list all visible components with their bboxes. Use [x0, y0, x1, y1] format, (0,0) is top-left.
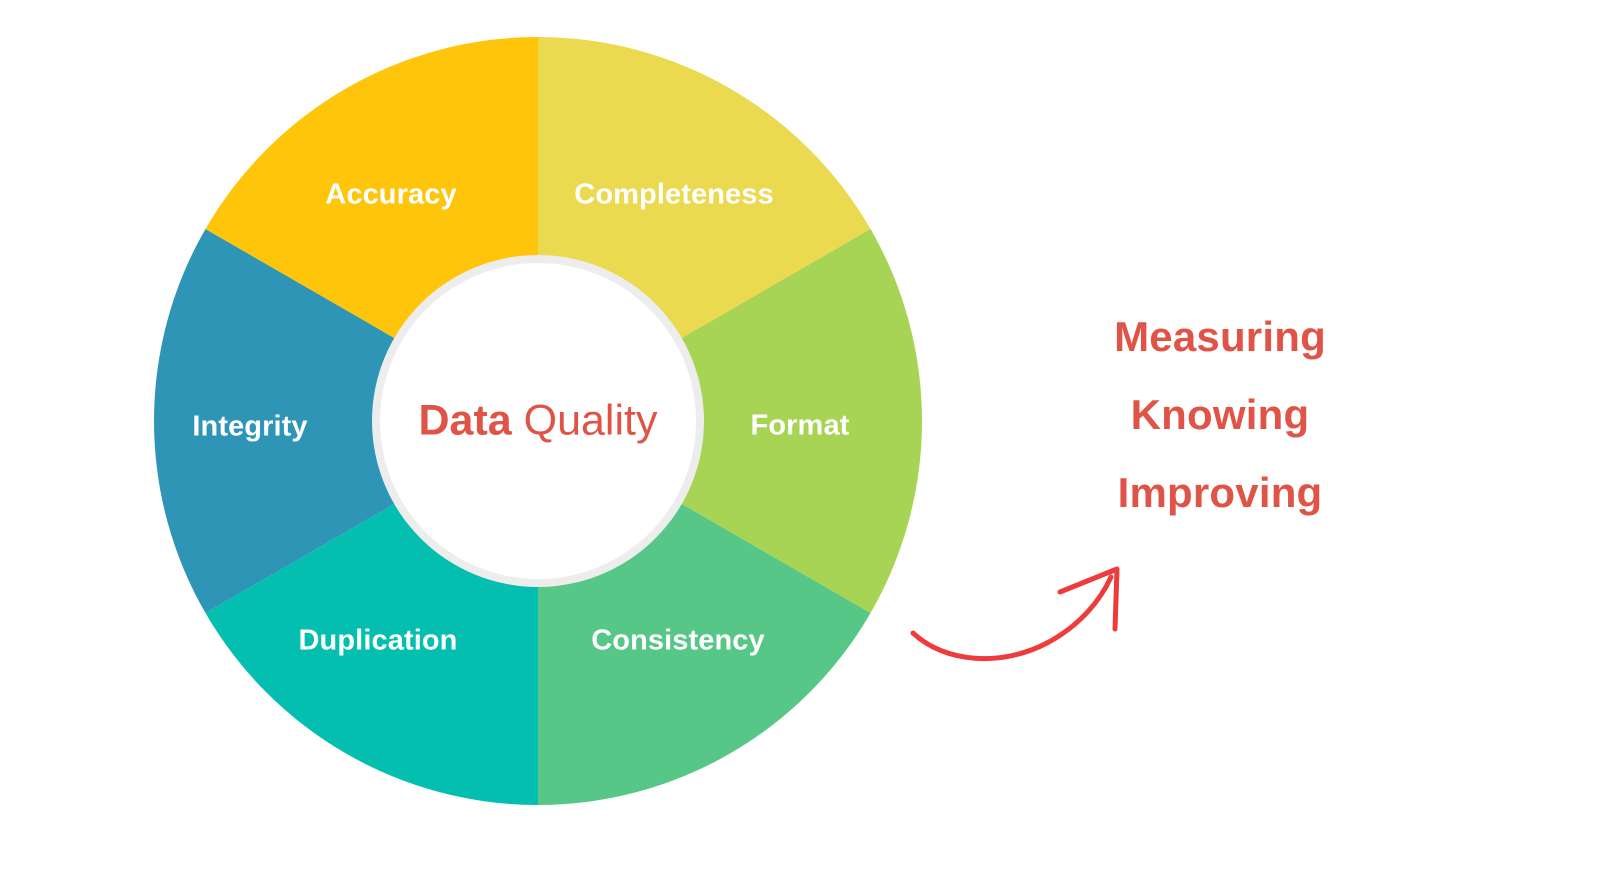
infographic-canvas: CompletenessFormatConsistencyDuplication…	[0, 0, 1600, 872]
tagline-line-measuring: Measuring	[1055, 298, 1385, 376]
segment-label-integrity: Integrity	[192, 411, 307, 443]
hub-title-light: Quality	[524, 397, 658, 445]
arrow-curve-path	[913, 577, 1111, 659]
segment-label-format: Format	[751, 410, 850, 442]
segment-label-accuracy: Accuracy	[325, 179, 456, 211]
curved-arrow-icon	[905, 555, 1155, 675]
segment-label-consistency: Consistency	[591, 625, 765, 657]
tagline-line-knowing: Knowing	[1055, 376, 1385, 454]
segment-label-completeness: Completeness	[574, 179, 773, 211]
tagline-block: Measuring Knowing Improving	[1055, 298, 1385, 532]
hub-title: Data Quality	[419, 400, 658, 443]
tagline-line-improving: Improving	[1055, 454, 1385, 532]
segment-label-duplication: Duplication	[299, 625, 458, 657]
hub-title-strong: Data	[419, 397, 512, 445]
